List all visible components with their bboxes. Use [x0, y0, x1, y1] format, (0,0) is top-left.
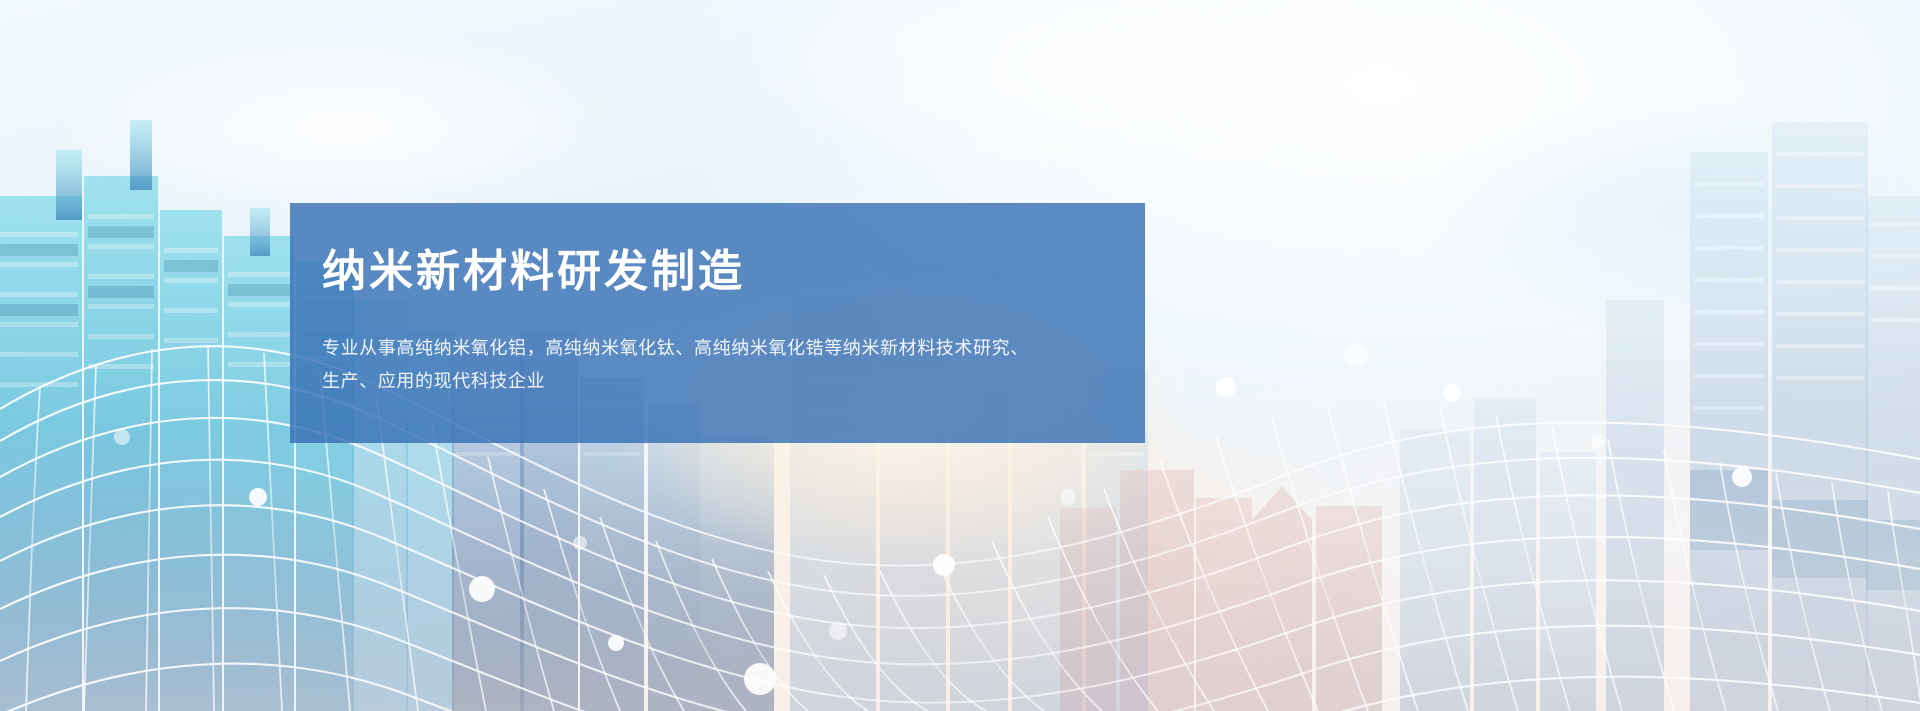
mesh-node [829, 622, 847, 640]
mesh-node [114, 429, 130, 445]
hero-text-panel: 纳米新材料研发制造 专业从事高纯纳米氧化铝，高纯纳米氧化钛、高纯纳米氧化锆等纳米… [290, 203, 1145, 443]
mesh-node [744, 663, 776, 695]
mesh-node [608, 635, 624, 651]
hero-banner: 纳米新材料研发制造 专业从事高纯纳米氧化铝，高纯纳米氧化钛、高纯纳米氧化锆等纳米… [0, 0, 1920, 711]
mesh-node [1591, 434, 1605, 448]
subtitle-line-1: 专业从事高纯纳米氧化铝，高纯纳米氧化钛、高纯纳米氧化锆等纳米新材料技术研究、 [322, 332, 1112, 365]
subtitle-line-2: 生产、应用的现代科技企业 [322, 365, 1112, 398]
mesh-node [1060, 489, 1076, 505]
mesh-node [1443, 384, 1461, 402]
hero-subtitle: 专业从事高纯纳米氧化铝，高纯纳米氧化钛、高纯纳米氧化锆等纳米新材料技术研究、 生… [322, 332, 1112, 399]
mesh-node [1344, 343, 1368, 367]
mesh-node [933, 554, 955, 576]
page-title: 纳米新材料研发制造 [322, 247, 1145, 298]
mesh-node [1732, 467, 1752, 487]
mesh-node [249, 488, 267, 506]
mesh-node [1216, 377, 1236, 397]
mesh-node [469, 576, 495, 602]
mesh-node [573, 536, 587, 550]
